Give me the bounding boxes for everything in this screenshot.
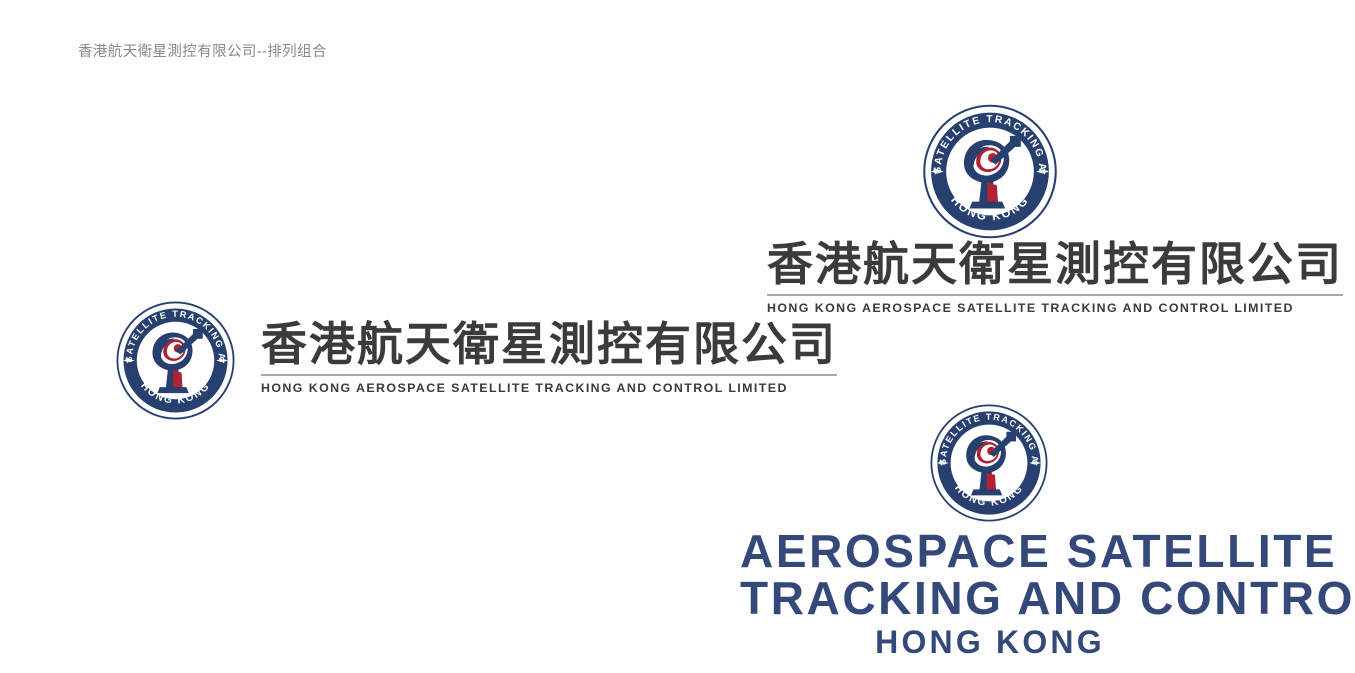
wordmark-divider-rule — [767, 294, 1343, 296]
english-stack-line-3: HONG KONG — [740, 626, 1240, 659]
wordmark-divider-rule — [261, 374, 837, 376]
wordmark-english-name: HONG KONG AEROSPACE SATELLITE TRACKING A… — [261, 382, 837, 394]
page-title: 香港航天衛星測控有限公司--排列组合 — [78, 40, 327, 61]
logo-badge-horizontal: AEROSPACE SATELLITE TRACKING AND CONTROL… — [110, 300, 241, 421]
wordmark-stacked: 香港航天衛星測控有限公司 HONG KONG AEROSPACE SATELLI… — [767, 241, 1343, 314]
wordmark-english-name: HONG KONG AEROSPACE SATELLITE TRACKING A… — [767, 302, 1343, 314]
wordmark-chinese-name: 香港航天衛星測控有限公司 — [767, 241, 1343, 287]
wordmark-english-stack: AEROSPACE SATELLITE TRACKING AND CONTROL… — [740, 528, 1240, 658]
english-stack-line-1: AEROSPACE SATELLITE — [740, 528, 1240, 575]
english-stack-line-2: TRACKING AND CONTROL — [740, 575, 1240, 622]
logo-badge-english: AEROSPACE SATELLITE TRACKING AND CONTROL… — [923, 403, 1055, 523]
wordmark-horizontal: 香港航天衛星測控有限公司 HONG KONG AEROSPACE SATELLI… — [261, 321, 837, 394]
wordmark-chinese-name: 香港航天衛星測控有限公司 — [261, 321, 837, 367]
logo-badge-stacked: AEROSPACE SATELLITE TRACKING AND CONTROL… — [918, 103, 1062, 240]
